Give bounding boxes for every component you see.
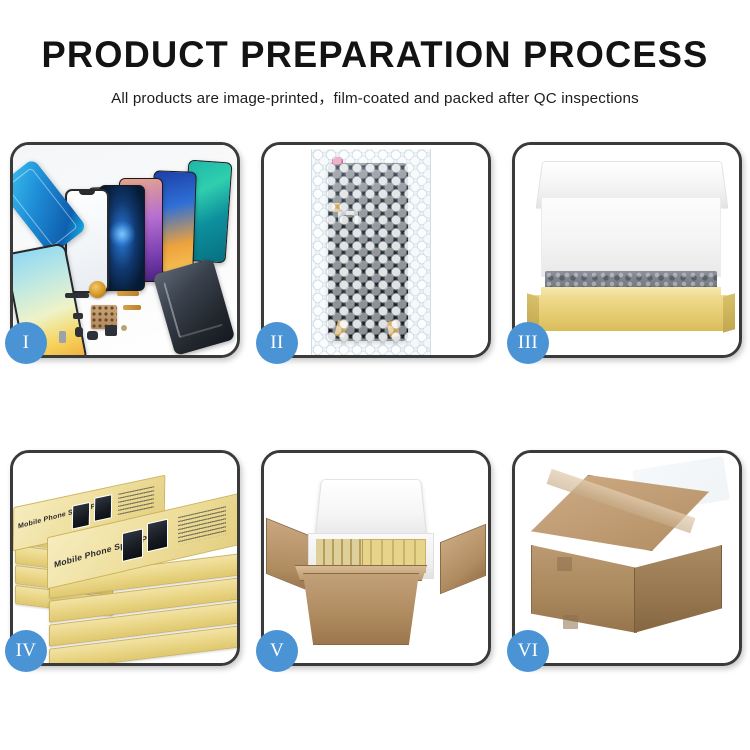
taptic-part-icon [105, 325, 117, 336]
bubble-texture-overlay [312, 149, 430, 355]
vibration-coil-part-icon [89, 281, 106, 298]
step-image-6 [515, 453, 739, 663]
step-image-3 [515, 145, 739, 355]
camera-module-part-icon [87, 331, 98, 340]
carton-flap-right [440, 524, 486, 595]
page-header: PRODUCT PREPARATION PROCESS All products… [0, 0, 750, 108]
step-image-1 [13, 145, 237, 355]
step-badge-3: III [507, 322, 549, 364]
page-title: PRODUCT PREPARATION PROCESS [8, 0, 743, 75]
box-phone-thumbnail [72, 502, 90, 530]
speaker-part-icon [65, 293, 89, 298]
button-part-icon [73, 313, 83, 319]
sim-tray-part-icon [59, 331, 66, 343]
step-panel-4: Mobile Phone Spare Parts Mobile Phone Sp… [10, 450, 240, 666]
box-phone-thumbnail [94, 494, 112, 522]
step-image-2 [264, 145, 488, 355]
styrofoam-lid-icon [315, 479, 428, 539]
box-spec-text-block [178, 506, 226, 545]
step-panel-1: I [10, 142, 240, 358]
bubble-wrap-bag [311, 149, 431, 355]
step-badge-6: VI [507, 630, 549, 672]
step-panel-3: III [512, 142, 742, 358]
box-spec-text-block [118, 486, 154, 516]
product-preparation-page: PRODUCT PREPARATION PROCESS All products… [0, 0, 750, 750]
carton-seam-mark [563, 615, 578, 629]
carton-seam-mark [557, 557, 572, 571]
yellow-box-body-icon [535, 295, 727, 331]
small-screw-part-icon [121, 325, 127, 331]
carton-left-face [531, 545, 637, 633]
step-image-5 [264, 453, 488, 663]
white-foam-sheet-icon [541, 197, 721, 277]
step-badge-4: IV [5, 630, 47, 672]
carton-right-face [634, 545, 722, 633]
carton-body-icon [298, 573, 424, 645]
step-image-4: Mobile Phone Spare Parts Mobile Phone Sp… [13, 453, 237, 663]
box-phone-thumbnail [122, 528, 143, 562]
box-phone-thumbnail [147, 518, 168, 552]
step-badge-1: I [5, 322, 47, 364]
step-panel-2: II [261, 142, 491, 358]
step-panel-6: VI [512, 450, 742, 666]
step-badge-2: II [256, 322, 298, 364]
page-subtitle: All products are image-printed，film-coat… [0, 75, 750, 108]
step-badge-5: V [256, 630, 298, 672]
box-stack: Mobile Phone Spare Parts Mobile Phone Sp… [13, 453, 237, 663]
process-step-grid: I II [10, 142, 741, 666]
connector-part-icon [75, 327, 83, 337]
flex-cable-part-icon [117, 291, 139, 296]
step-panel-5: V [261, 450, 491, 666]
flex-cable-part-icon [123, 305, 141, 310]
